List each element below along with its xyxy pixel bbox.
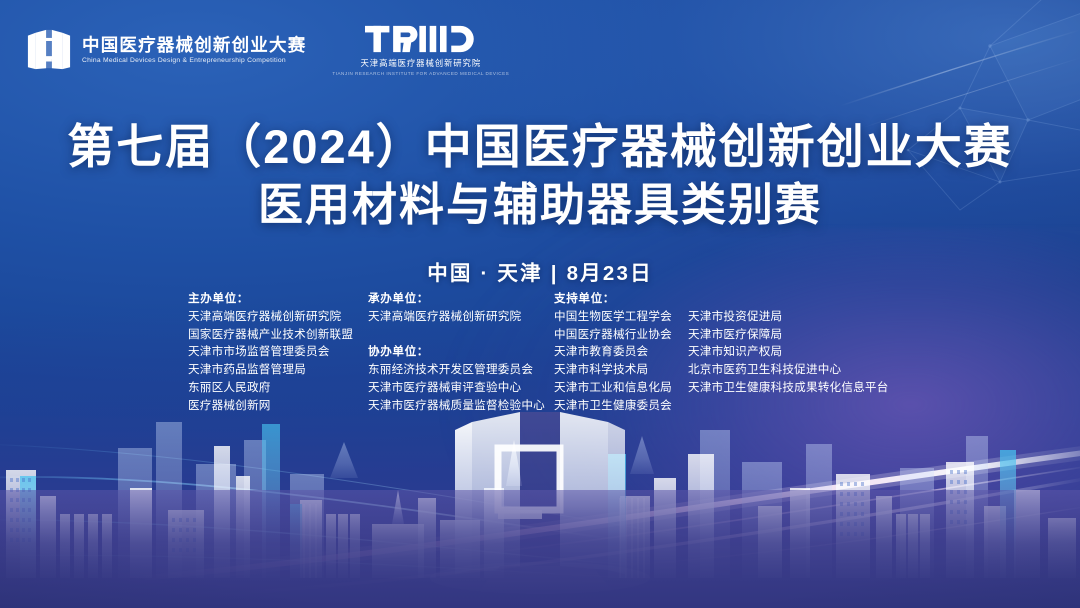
supporter-item: 北京市医药卫生科技促进中心 [688,361,898,379]
supporter-item: 天津市投资促进局 [688,308,898,326]
ground-plane [0,490,1080,608]
competition-title-en: China Medical Devices Design & Entrepren… [82,57,311,66]
organizer-item: 天津高端医疗器械创新研究院 [368,308,554,326]
organizer-heading: 承办单位： [368,290,554,308]
supporter-item: 天津市工业和信息化局 [554,379,688,397]
institute-title-cn: 天津高端医疗器械创新研究院 [361,57,482,69]
host-item: 天津高端医疗器械创新研究院 [188,308,368,326]
supporter-item: 天津市卫生健康委员会 [554,397,688,415]
competition-title-cn: 中国医疗器械创新创业大赛 [82,35,306,55]
host-item: 医疗器械创新网 [188,397,368,415]
host-item: 国家医疗器械产业技术创新联盟 [188,326,368,344]
co-organizer-item: 东丽经济技术开发区管理委员会 [368,361,554,379]
column-spacer [368,326,554,344]
institute-logo: 天津高端医疗器械创新研究院 TIANJIN RESEARCH INSTITUTE… [332,24,509,76]
trmd-wordmark-icon [365,24,478,54]
supporter-item: 天津市卫生健康科技成果转化信息平台 [688,379,898,397]
competition-logo-text: 中国医疗器械创新创业大赛 China Medical Devices Desig… [82,35,306,66]
institute-title-en: TIANJIN RESEARCH INSTITUTE FOR ADVANCED … [332,71,509,76]
supporter-item: 天津市科学技术局 [554,361,688,379]
open-gate-logo-icon [26,27,72,73]
supporter-item: 天津市知识产权局 [688,343,898,361]
host-heading: 主办单位： [188,290,368,308]
host-item: 天津市市场监督管理委员会 [188,343,368,361]
organizers-column-supporter-b: 天津市投资促进局 天津市医疗保障局 天津市知识产权局 北京市医药卫生科技促进中心… [688,290,898,415]
organizers-column-host: 主办单位： 天津高端医疗器械创新研究院 国家医疗器械产业技术创新联盟 天津市市场… [188,290,368,415]
supporter-item: 中国医疗器械行业协会 [554,326,688,344]
conference-poster: 中国医疗器械创新创业大赛 China Medical Devices Desig… [0,0,1080,608]
host-item: 东丽区人民政府 [188,379,368,397]
competition-logo: 中国医疗器械创新创业大赛 China Medical Devices Desig… [26,27,306,73]
title-block: 第七届（2024）中国医疗器械创新创业大赛 医用材料与辅助器具类别赛 中国 · … [0,118,1080,286]
host-item: 天津市药品监督管理局 [188,361,368,379]
poster-title-line-2: 医用材料与辅助器具类别赛 [0,177,1080,233]
supporter-heading: 支持单位： [554,290,688,308]
header-logos: 中国医疗器械创新创业大赛 China Medical Devices Desig… [26,24,509,76]
co-organizer-heading: 协办单位： [368,343,554,361]
organizers-column-supporter-a: 支持单位： 中国生物医学工程学会 中国医疗器械行业协会 天津市教育委员会 天津市… [554,290,688,415]
organizers-block: 主办单位： 天津高端医疗器械创新研究院 国家医疗器械产业技术创新联盟 天津市市场… [188,290,898,415]
poster-title-line-1: 第七届（2024）中国医疗器械创新创业大赛 [0,118,1080,175]
co-organizer-item: 天津市医疗器械质量监督检验中心 [368,397,554,415]
supporter-item: 天津市医疗保障局 [688,326,898,344]
co-organizer-item: 天津市医疗器械审评查验中心 [368,379,554,397]
supporter-item: 中国生物医学工程学会 [554,308,688,326]
date-location-bar: 中国 · 天津 | 8月23日 [0,256,1080,286]
supporter-item: 天津市教育委员会 [554,343,688,361]
column-spacer [688,290,898,308]
organizers-column-organizer: 承办单位： 天津高端医疗器械创新研究院 协办单位： 东丽经济技术开发区管理委员会… [368,290,554,415]
